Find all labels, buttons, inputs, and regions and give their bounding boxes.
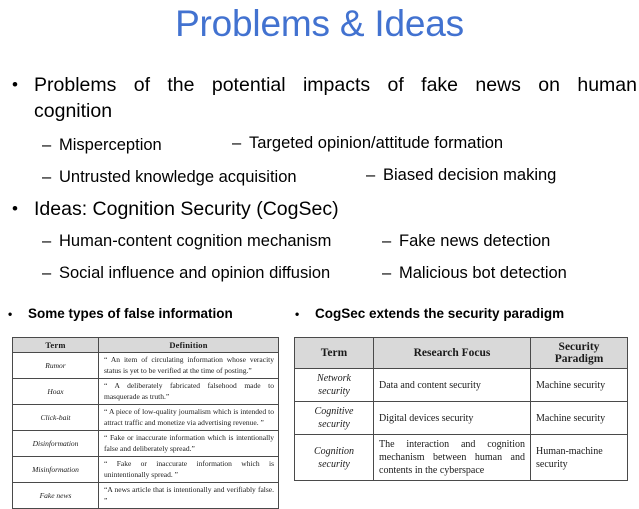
outline-region: • Problems of the potential impacts of f… [0, 72, 639, 294]
cell-term-line2: security [318, 459, 350, 470]
bullet-icon: • [295, 305, 315, 323]
outline-bullet-ideas-label: Ideas: Cognition Security (CogSec) [34, 196, 412, 222]
cell-term: Disinformation [13, 431, 99, 457]
outline-sub-human-content-label: Human-content cognition mechanism [59, 232, 331, 250]
heading-false-information-label: Some types of false information [28, 306, 233, 321]
cell-definition: “ A deliberately fabricated falsehood ma… [99, 379, 279, 405]
column-header-term: Term [13, 338, 99, 353]
column-header-definition: Definition [99, 338, 279, 353]
cell-definition: “ Fake or inaccurate information which i… [99, 431, 279, 457]
outline-sub-biased-decision: –Biased decision making [366, 164, 556, 186]
table-row: Misinformation “ Fake or inaccurate info… [13, 457, 279, 483]
outline-bullet-problems-line1: Problems of the potential impacts of fak… [34, 72, 637, 98]
outline-sub-untrusted-knowledge-label: Untrusted knowledge acquisition [59, 168, 297, 186]
outline-sub-social-influence-label: Social influence and opinion diffusion [59, 264, 330, 282]
column-header-security-paradigm: Security Paradigm [531, 338, 628, 369]
cell-research-focus: The interaction and cognition mechanism … [374, 435, 531, 481]
outline-sub-fake-news-detection-label: Fake news detection [399, 232, 550, 250]
outline-bullet-problems-line2: cognition [34, 98, 637, 124]
heading-cogsec-paradigm: •CogSec extends the security paradigm [295, 305, 564, 323]
cell-definition: “ A piece of low-quality journalism whic… [99, 405, 279, 431]
cell-term: Cognitive security [295, 402, 374, 435]
cell-term: Fake news [13, 483, 99, 509]
table-row: Click-bait “ A piece of low-quality jour… [13, 405, 279, 431]
table-row: Cognitive security Digital devices secur… [295, 402, 628, 435]
cell-term: Rumor [13, 353, 99, 379]
outline-sub-misperception-label: Misperception [59, 136, 162, 154]
security-paradigm-table: Term Research Focus Security Paradigm Ne… [294, 337, 628, 481]
outline-sub-biased-decision-label: Biased decision making [383, 166, 556, 184]
false-information-table: Term Definition Rumor “ An item of circu… [12, 337, 279, 509]
cell-term-line1: Cognitive [315, 406, 354, 417]
table-row: Cognition security The interaction and c… [295, 435, 628, 481]
table-row: Network security Data and content securi… [295, 369, 628, 402]
dash-icon: – [42, 230, 59, 252]
table-header-row: Term Research Focus Security Paradigm [295, 338, 628, 369]
cell-term-line2: security [318, 386, 350, 397]
heading-false-information: •Some types of false information [8, 305, 233, 323]
column-header-research-focus: Research Focus [374, 338, 531, 369]
page-title: Problems & Ideas [0, 2, 639, 46]
dash-icon: – [382, 230, 399, 252]
cell-security-paradigm: Machine security [531, 402, 628, 435]
bullet-icon: • [12, 72, 18, 98]
heading-cogsec-paradigm-label: CogSec extends the security paradigm [315, 306, 564, 321]
dash-icon: – [232, 132, 249, 154]
cell-definition: “ Fake or inaccurate information which i… [99, 457, 279, 483]
outline-sub-misperception: –Misperception [42, 134, 162, 156]
cell-term: Cognition security [295, 435, 374, 481]
cell-term: Network security [295, 369, 374, 402]
outline-sub-human-content: –Human-content cognition mechanism [42, 230, 331, 252]
outline-sub-targeted-opinion-label: Targeted opinion/attitude formation [249, 134, 503, 152]
outline-sub-malicious-bot: –Malicious bot detection [382, 262, 567, 284]
outline-sub-untrusted-knowledge: –Untrusted knowledge acquisition [42, 166, 297, 188]
column-header-term: Term [295, 338, 374, 369]
cell-security-paradigm: Machine security [531, 369, 628, 402]
cell-term-line1: Network [317, 373, 351, 384]
outline-bullet-problems: • Problems of the potential impacts of f… [12, 72, 637, 124]
cell-definition: “ An item of circulating information who… [99, 353, 279, 379]
cell-term: Click-bait [13, 405, 99, 431]
table-row: Rumor “ An item of circulating informati… [13, 353, 279, 379]
outline-sub-fake-news-detection: –Fake news detection [382, 230, 550, 252]
column-header-security-paradigm-line2: Paradigm [555, 353, 604, 365]
dash-icon: – [382, 262, 399, 284]
table-row: Disinformation “ Fake or inaccurate info… [13, 431, 279, 457]
dash-icon: – [366, 164, 383, 186]
table-row: Hoax “ A deliberately fabricated falseho… [13, 379, 279, 405]
dash-icon: – [42, 262, 59, 284]
outline-sub-targeted-opinion: –Targeted opinion/attitude formation [232, 132, 503, 154]
table-header-row: Term Definition [13, 338, 279, 353]
cell-research-focus: Digital devices security [374, 402, 531, 435]
dash-icon: – [42, 166, 59, 188]
cell-term: Misinformation [13, 457, 99, 483]
cell-term-line2: security [318, 419, 350, 430]
column-header-security-paradigm-line1: Security [559, 341, 600, 353]
bullet-icon: • [12, 196, 18, 222]
outline-sub-social-influence: –Social influence and opinion diffusion [42, 262, 330, 284]
cell-term: Hoax [13, 379, 99, 405]
dash-icon: – [42, 134, 59, 156]
cell-security-paradigm: Human-machine security [531, 435, 628, 481]
bullet-icon: • [8, 305, 28, 323]
cell-definition: “A news article that is intentionally an… [99, 483, 279, 509]
cell-term-line1: Cognition [314, 446, 354, 457]
table-row: Fake news “A news article that is intent… [13, 483, 279, 509]
outline-bullet-ideas: • Ideas: Cognition Security (CogSec) [12, 196, 412, 222]
outline-sub-malicious-bot-label: Malicious bot detection [399, 264, 567, 282]
cell-research-focus: Data and content security [374, 369, 531, 402]
